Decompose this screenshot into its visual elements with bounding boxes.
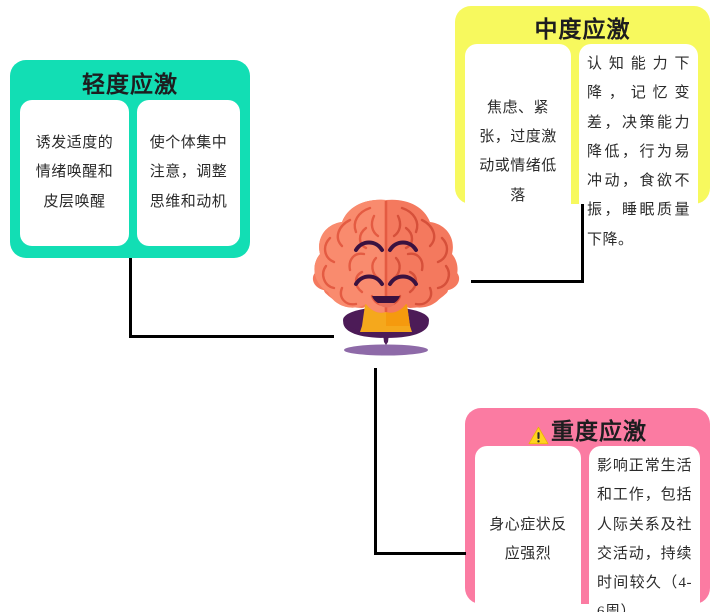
card-severe-2: 影响正常生活和工作，包括人际关系及社交活动，持续时间较久（4-6周） — [589, 446, 700, 612]
connector-moderate-horizontal — [471, 280, 584, 283]
card-moderate-1-text: 焦虑、紧张，过度激动或情绪低落 — [473, 94, 563, 211]
card-mild-1: 诱发适度的情绪唤醒和皮层唤醒 — [20, 100, 129, 246]
warning-triangle-icon — [528, 423, 549, 442]
panel-severe-title: 重度应激 — [551, 416, 647, 446]
panel-mild-title: 轻度应激 — [20, 68, 240, 100]
card-severe-1-text: 身心症状反应强烈 — [483, 511, 573, 570]
meditating-brain-character — [300, 192, 472, 364]
connector-moderate-vertical — [581, 204, 584, 283]
panel-moderate-title: 中度应激 — [465, 14, 700, 44]
card-moderate-1: 焦虑、紧张，过度激动或情绪低落 — [465, 44, 571, 261]
card-moderate-2-text: 认知能力下降，记忆变差，决策能力降低，行为易冲动，食欲不振，睡眠质量下降。 — [587, 50, 690, 255]
diagram-canvas: 轻度应激 诱发适度的情绪唤醒和皮层唤醒 使个体集中注意，调整思维和动机 中度应激… — [0, 0, 725, 612]
mascot-floor-shadow — [344, 345, 428, 356]
panel-mild-stress[interactable]: 轻度应激 诱发适度的情绪唤醒和皮层唤醒 使个体集中注意，调整思维和动机 — [10, 60, 250, 258]
mascot-brain-head — [314, 200, 457, 313]
connector-severe-horizontal — [374, 552, 466, 555]
card-moderate-2: 认知能力下降，记忆变差，决策能力降低，行为易冲动，食欲不振，睡眠质量下降。 — [579, 44, 698, 261]
card-severe-2-text: 影响正常生活和工作，包括人际关系及社交活动，持续时间较久（4-6周） — [597, 452, 692, 612]
panel-severe-stress[interactable]: 重度应激 身心症状反应强烈 影响正常生活和工作，包括人际关系及社交活动，持续时间… — [465, 408, 710, 604]
card-mild-2: 使个体集中注意，调整思维和动机 — [137, 100, 240, 246]
panel-severe-cards: 身心症状反应强烈 影响正常生活和工作，包括人际关系及社交活动，持续时间较久（4-… — [475, 446, 700, 612]
panel-moderate-stress[interactable]: 中度应激 焦虑、紧张，过度激动或情绪低落 认知能力下降，记忆变差，决策能力降低，… — [455, 6, 710, 204]
connector-severe-vertical — [374, 368, 377, 555]
card-severe-1: 身心症状反应强烈 — [475, 446, 581, 612]
card-mild-2-text: 使个体集中注意，调整思维和动机 — [145, 129, 232, 217]
card-mild-1-text: 诱发适度的情绪唤醒和皮层唤醒 — [28, 129, 121, 217]
connector-mild-vertical — [129, 258, 132, 338]
panel-severe-title-row: 重度应激 — [475, 416, 700, 446]
panel-mild-cards: 诱发适度的情绪唤醒和皮层唤醒 使个体集中注意，调整思维和动机 — [20, 100, 240, 246]
